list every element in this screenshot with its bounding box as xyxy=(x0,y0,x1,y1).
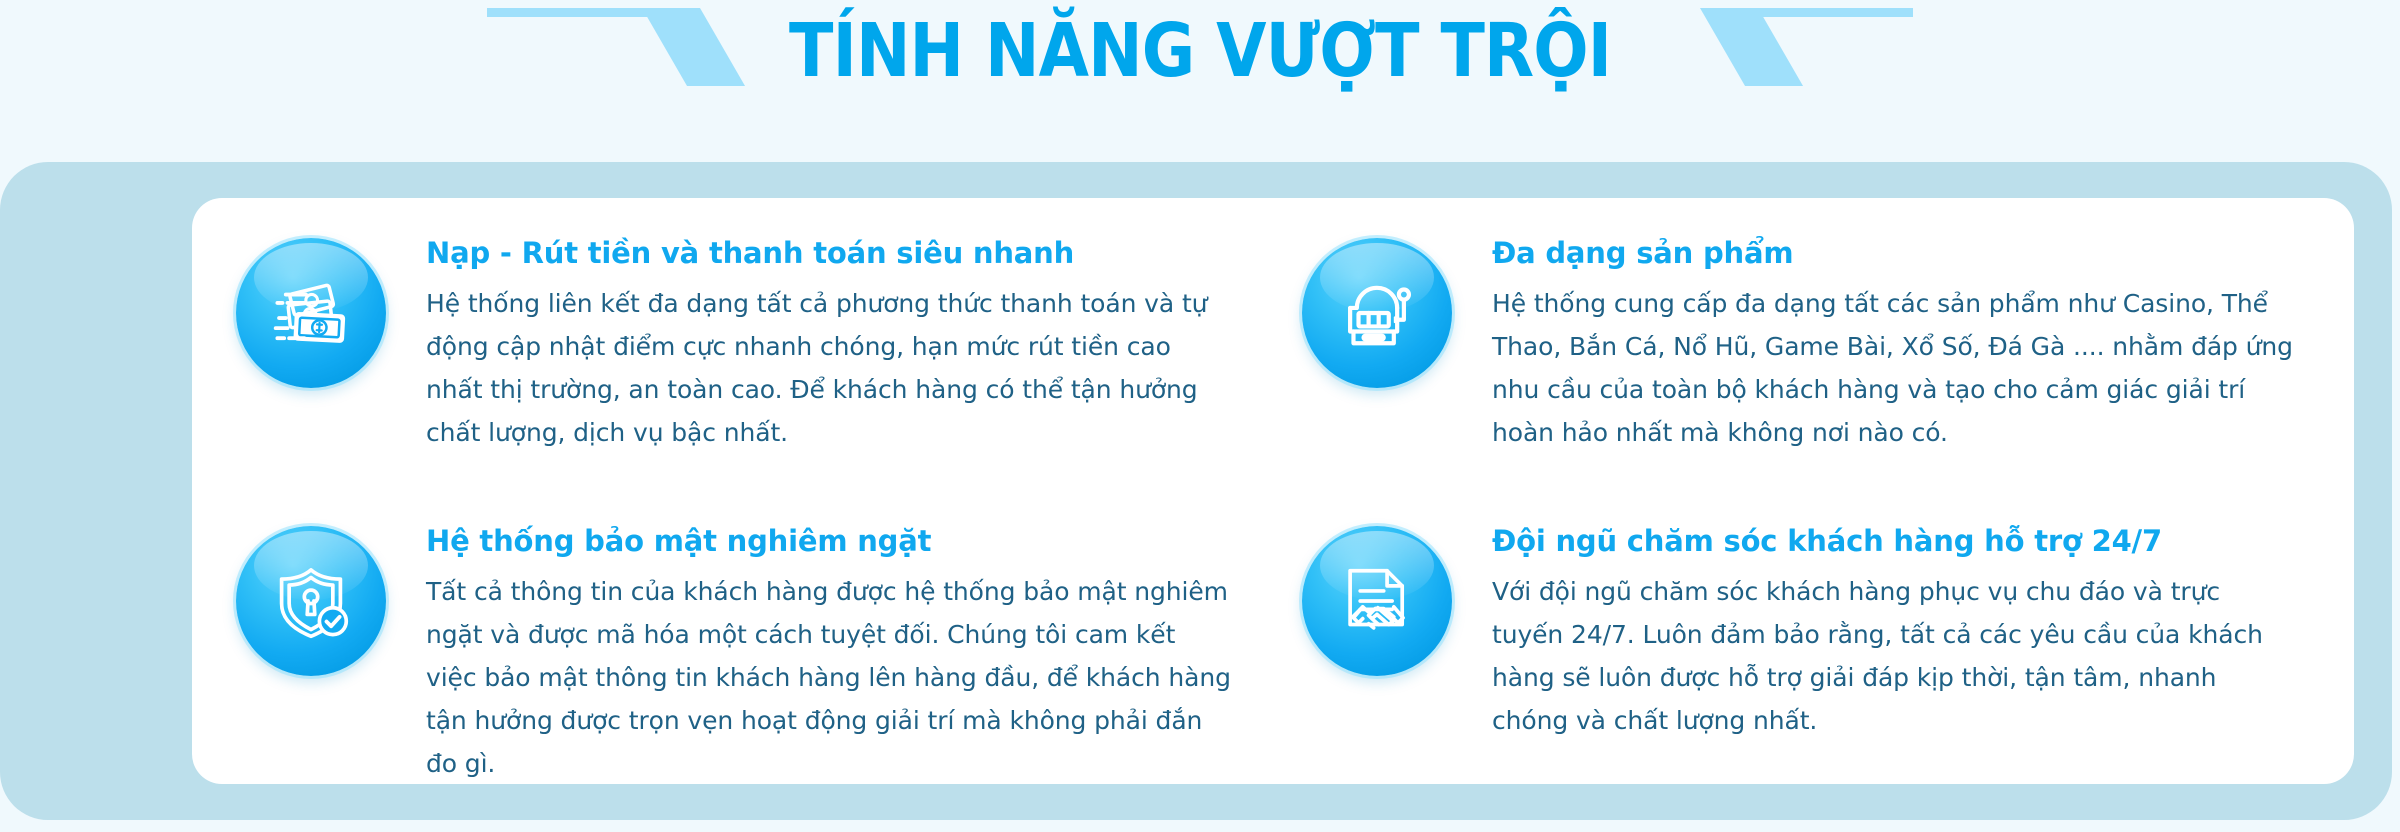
header-band: TÍNH NĂNG VƯỢT TRỘI xyxy=(0,0,2400,160)
feature-description: Tất cả thông tin của khách hàng được hệ … xyxy=(426,570,1232,785)
decoration-left-slab xyxy=(642,8,745,86)
decoration-left-icon xyxy=(487,8,707,86)
feature-body: Đội ngũ chăm sóc khách hàng hỗ trợ 24/7 … xyxy=(1492,520,2298,742)
feature-title: Đội ngũ chăm sóc khách hàng hỗ trợ 24/7 xyxy=(1492,524,2298,559)
slot-machine-icon xyxy=(1302,238,1452,388)
feature-item-security: Hệ thống bảo mật nghiêm ngặt Tất cả thôn… xyxy=(236,520,1232,800)
page-title: TÍNH NĂNG VƯỢT TRỘI xyxy=(789,6,1611,88)
feature-item-products: Đa dạng sản phẩm Hệ thống cung cấp đa dạ… xyxy=(1302,232,2298,512)
feature-item-deposit-withdraw: Nạp - Rút tiền và thanh toán siêu nhanh … xyxy=(236,232,1232,512)
feature-body: Nạp - Rút tiền và thanh toán siêu nhanh … xyxy=(426,232,1232,454)
shield-lock-check-icon xyxy=(236,526,386,676)
feature-item-support: Đội ngũ chăm sóc khách hàng hỗ trợ 24/7 … xyxy=(1302,520,2298,800)
features-grid: Nạp - Rút tiền và thanh toán siêu nhanh … xyxy=(192,232,2354,800)
feature-title: Đa dạng sản phẩm xyxy=(1492,236,2298,271)
feature-description: Với đội ngũ chăm sóc khách hàng phục vụ … xyxy=(1492,570,2298,742)
features-card: Nạp - Rút tiền và thanh toán siêu nhanh … xyxy=(192,198,2354,784)
feature-body: Hệ thống bảo mật nghiêm ngặt Tất cả thôn… xyxy=(426,520,1232,785)
decoration-right-icon xyxy=(1693,8,1913,86)
feature-body: Đa dạng sản phẩm Hệ thống cung cấp đa dạ… xyxy=(1492,232,2298,454)
title-row: TÍNH NĂNG VƯỢT TRỘI xyxy=(0,6,2400,88)
feature-description: Hệ thống cung cấp đa dạng tất các sản ph… xyxy=(1492,282,2298,454)
features-panel: Nạp - Rút tiền và thanh toán siêu nhanh … xyxy=(0,162,2392,820)
feature-title: Nạp - Rút tiền và thanh toán siêu nhanh xyxy=(426,236,1232,271)
decoration-right-bar xyxy=(1741,8,1913,17)
feature-title: Hệ thống bảo mật nghiêm ngặt xyxy=(426,524,1232,559)
decoration-right-slab xyxy=(1700,8,1803,86)
feature-description: Hệ thống liên kết đa dạng tất cả phương … xyxy=(426,282,1232,454)
decoration-left-bar xyxy=(487,8,659,17)
money-bills-icon xyxy=(236,238,386,388)
document-handshake-icon xyxy=(1302,526,1452,676)
